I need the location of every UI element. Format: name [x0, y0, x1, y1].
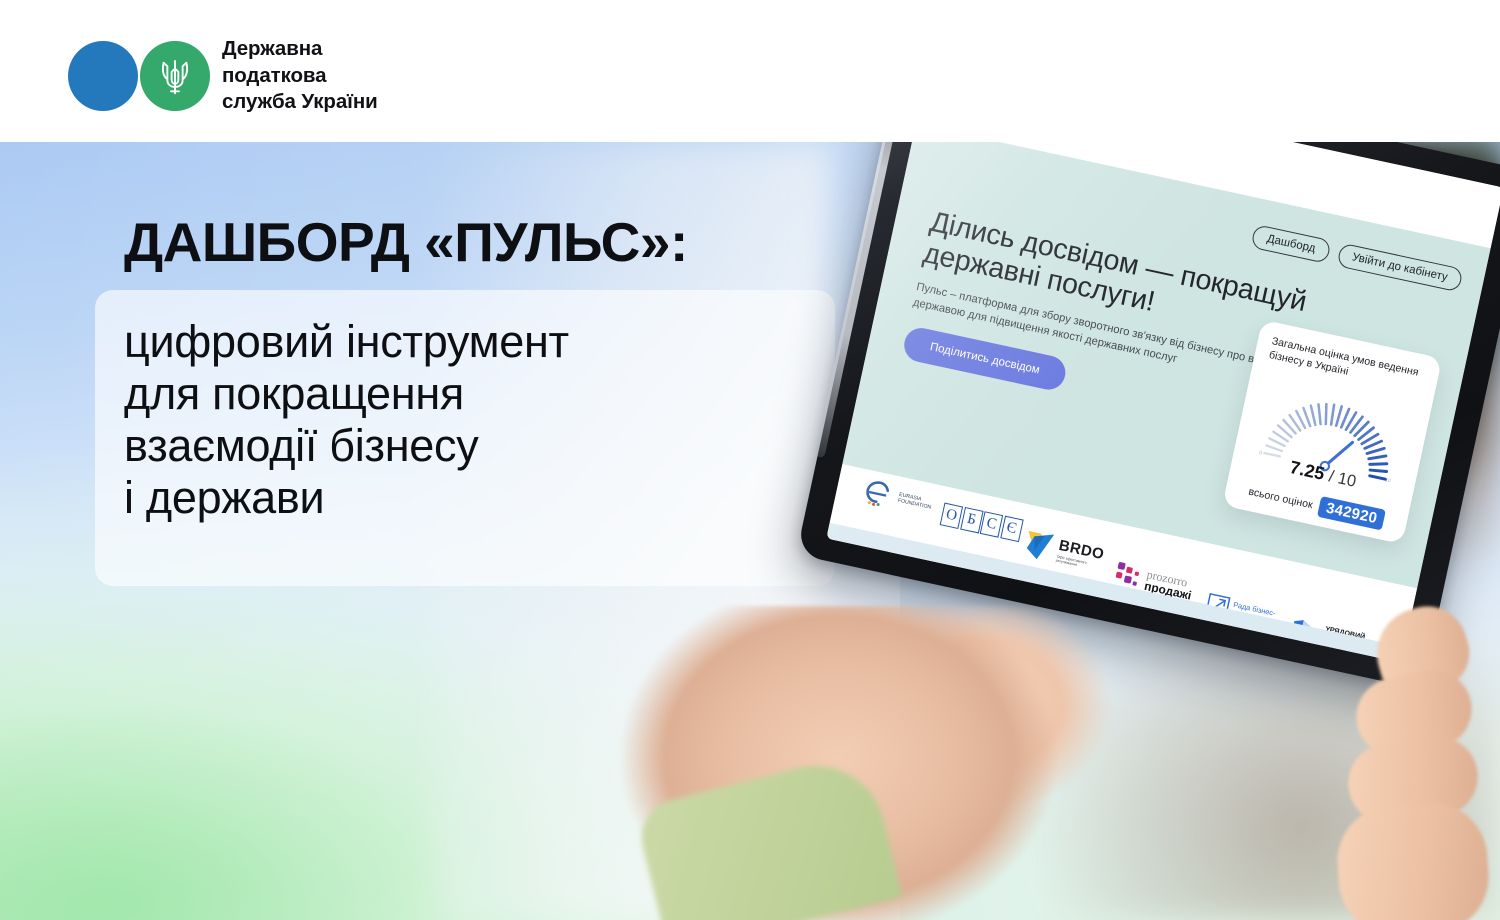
palm: [1334, 799, 1493, 920]
partner-logo-osce: О Б С Є: [940, 503, 1024, 542]
overall-rating-card: Загальна оцінка умов ведення бізнесу в У…: [1222, 320, 1442, 545]
rating-score-denominator: / 10: [1327, 467, 1358, 490]
gauge-tick: [1266, 445, 1282, 451]
brdo-mark-icon: [1021, 527, 1057, 565]
gauge-tick: [1370, 468, 1386, 474]
poster-canvas: Пульс Дашборд Увійти до кабінету Ділись …: [0, 0, 1500, 920]
agency-name: Державна податкова служба України: [222, 36, 378, 116]
eurasia-caption: EURASIA FOUNDATION: [897, 491, 933, 511]
gauge-tick: [1336, 406, 1341, 426]
rating-total-label: всього оцінок: [1247, 485, 1313, 511]
trident-icon: [159, 56, 191, 96]
logo-green-circle: [140, 41, 210, 111]
osce-letter-ie: Є: [1000, 516, 1023, 542]
logo-blue-circle: [68, 41, 138, 111]
nav-dashboard-button[interactable]: Дашборд: [1251, 224, 1332, 264]
agency-logo: Державна податкова служба України: [68, 36, 378, 116]
brand-header: Державна податкова служба України: [0, 0, 1500, 142]
eurasia-e-icon: [858, 473, 898, 513]
right-hand-fingers: [1348, 598, 1500, 920]
gauge-tick: [1322, 404, 1330, 424]
rating-total-badge: 342920: [1317, 496, 1386, 530]
gauge-tick: [1315, 404, 1325, 424]
logo-circles: [68, 41, 216, 111]
gauge-tick: [1330, 405, 1335, 425]
gauge-tick: [1268, 438, 1285, 446]
nav-login-button[interactable]: Увійти до кабінету: [1336, 243, 1464, 293]
gauge-tick: [1370, 460, 1387, 468]
gauge-tick: [1369, 453, 1386, 463]
